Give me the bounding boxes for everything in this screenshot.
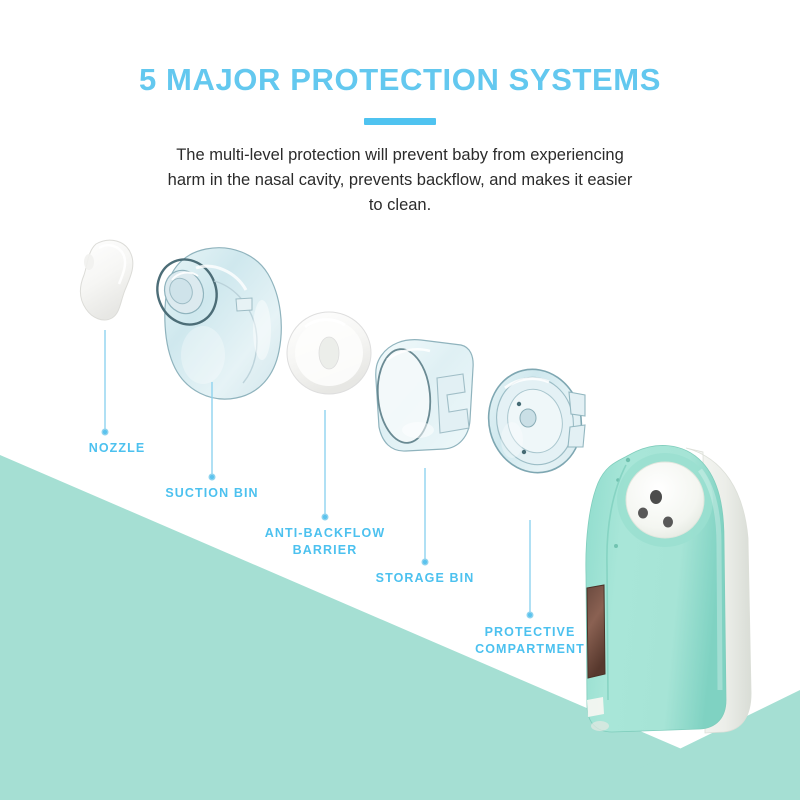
callout-label-protective-compartment: PROTECTIVE COMPARTMENT xyxy=(450,624,610,658)
anti-backflow-barrier-part xyxy=(287,312,371,394)
infographic-page: 5 MAJOR PROTECTION SYSTEMS The multi-lev… xyxy=(0,0,800,800)
device-body xyxy=(586,445,751,733)
product-parts-illustration xyxy=(0,0,800,800)
storage-bin-part xyxy=(374,340,473,451)
nozzle-part xyxy=(80,240,132,320)
protective-compartment-part xyxy=(478,359,592,482)
callout-label-suction-bin: SUCTION BIN xyxy=(152,485,272,502)
callout-label-nozzle: NOZZLE xyxy=(82,440,152,457)
callout-label-storage-bin: STORAGE BIN xyxy=(361,570,489,587)
callout-label-anti-backflow-barrier: ANTI-BACKFLOW BARRIER xyxy=(257,525,393,559)
suction-bin-part xyxy=(148,248,282,399)
